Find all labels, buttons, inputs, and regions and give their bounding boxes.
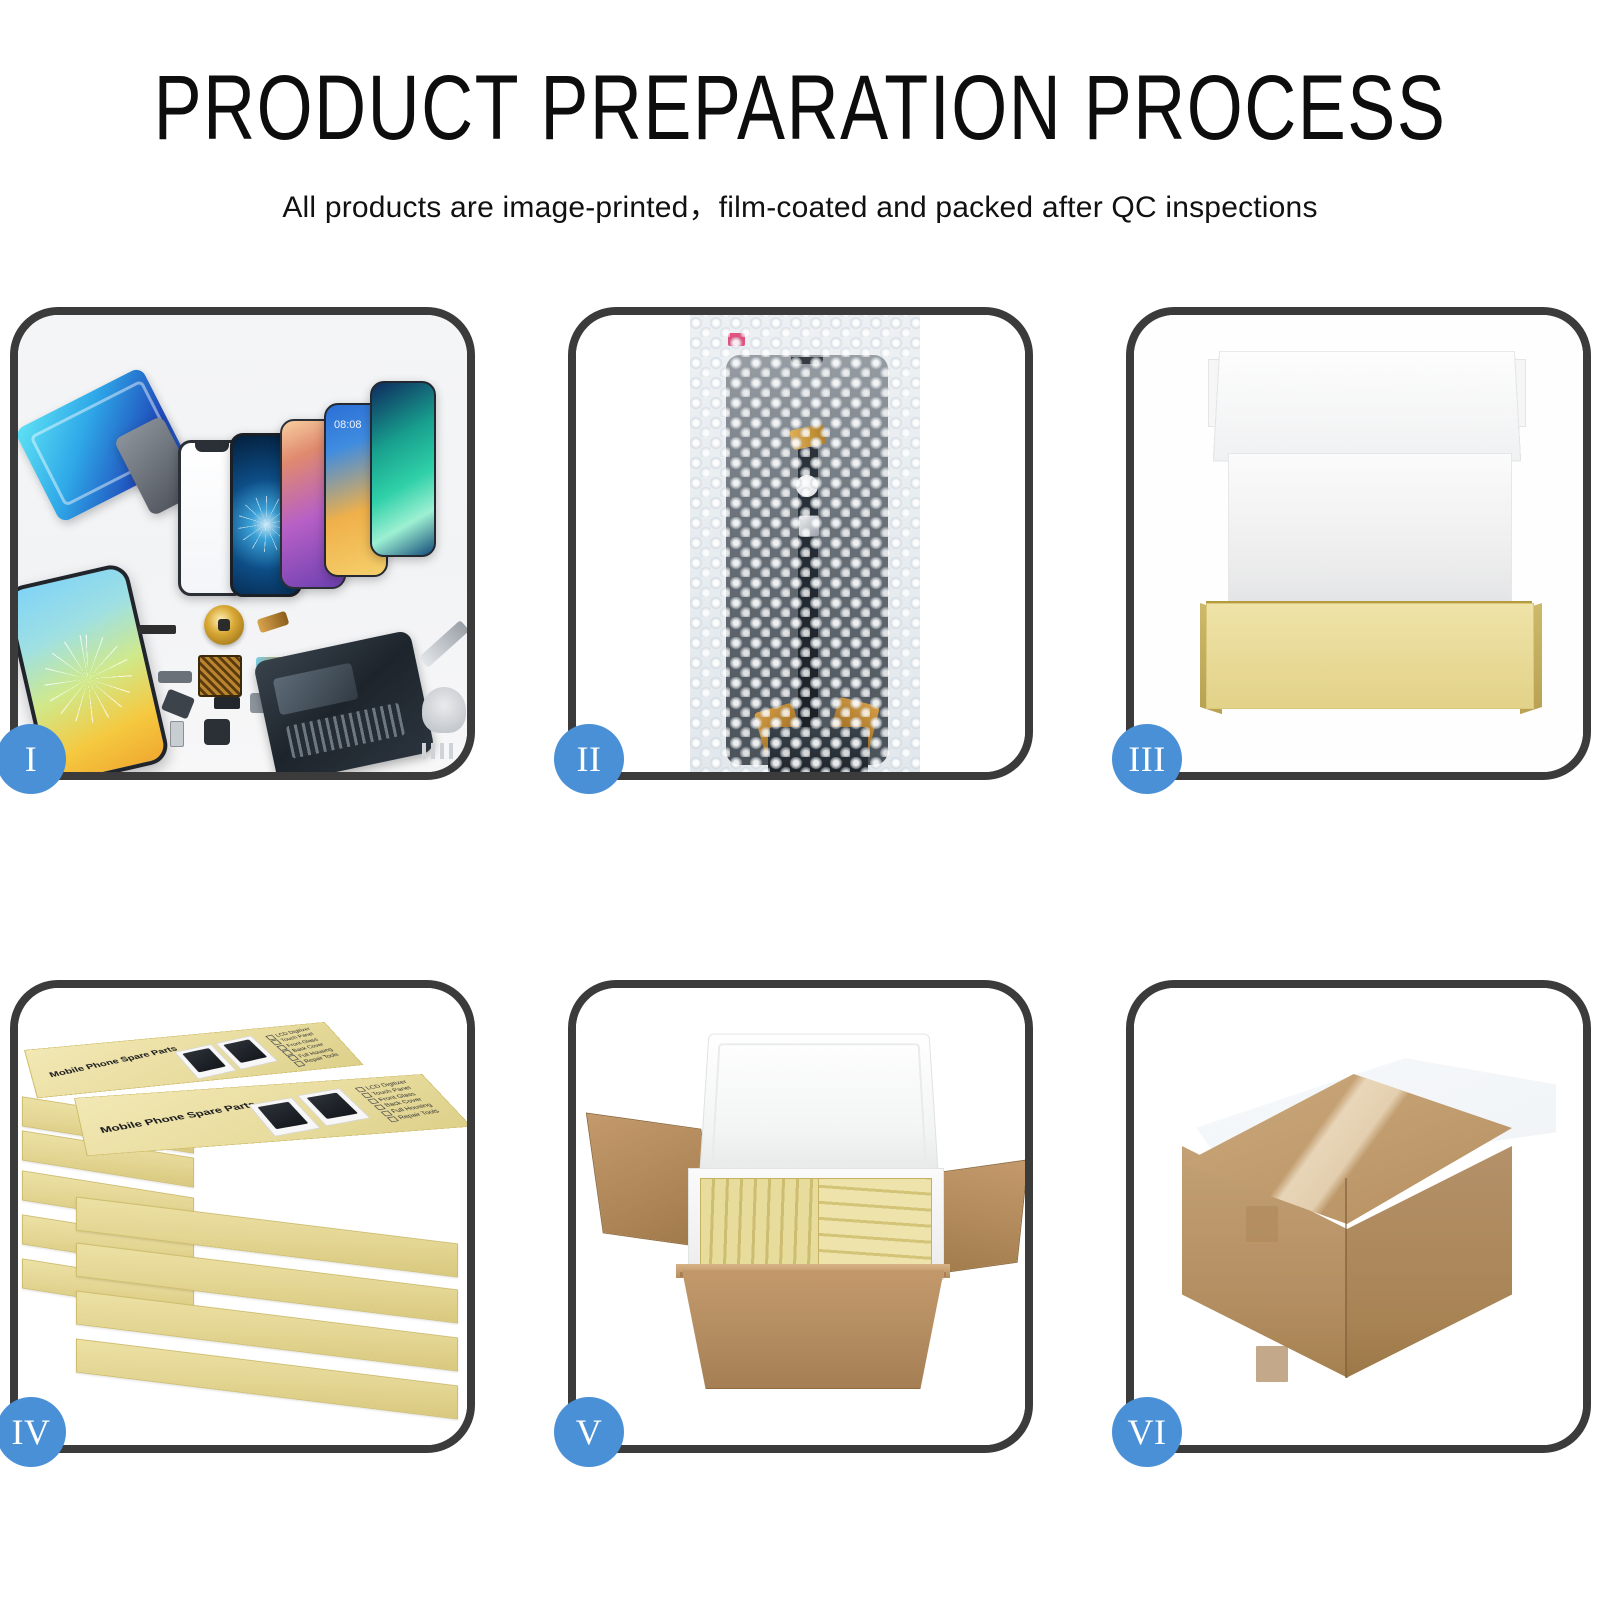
process-step-grid: 08:08 I — [10, 307, 1590, 1453]
retail-box-brand-front: Mobile Phone Spare Parts — [98, 1100, 259, 1135]
step-2-photo — [576, 315, 1025, 772]
page-title: PRODUCT PREPARATION PROCESS — [0, 62, 1600, 154]
packed-retail-boxes-row-2 — [818, 1178, 932, 1266]
mailer-lid-front — [1228, 453, 1512, 605]
process-step-4[interactable]: Mobile Phone Spare Parts LCD Digitizer T… — [10, 980, 475, 1453]
retail-box-brand-rear: Mobile Phone Spare Parts — [48, 1045, 180, 1079]
page-header: PRODUCT PREPARATION PROCESS All products… — [0, 0, 1600, 226]
foam-lid — [699, 1034, 939, 1176]
phone-clock-label: 08:08 — [334, 419, 362, 431]
process-step-3[interactable]: III — [1126, 307, 1591, 780]
step-3-photo — [1134, 315, 1583, 772]
carton-tape-tab-lower — [1256, 1346, 1288, 1382]
loudspeaker-part — [204, 719, 230, 745]
process-step-5[interactable]: V — [568, 980, 1033, 1453]
mailer-lid-back — [1213, 351, 1521, 462]
step-badge-5: V — [554, 1397, 624, 1467]
step-5-photo — [576, 988, 1025, 1445]
ic-chip-part — [198, 655, 242, 697]
cleaning-brush-tool — [422, 687, 466, 733]
bubble-wrap-texture — [690, 315, 920, 772]
step-badge-3: III — [1112, 724, 1182, 794]
step-4-photo: Mobile Phone Spare Parts LCD Digitizer T… — [18, 988, 467, 1445]
bubble-wrap-bag — [690, 315, 920, 772]
carton-body — [682, 1270, 944, 1389]
screws-set — [422, 743, 456, 759]
step-1-photo: 08:08 — [18, 315, 467, 772]
step-badge-6: VI — [1112, 1397, 1182, 1467]
vibration-motor-part — [214, 697, 240, 709]
carton-tape-tab-upper — [1246, 1206, 1278, 1242]
process-step-2[interactable]: II — [568, 307, 1033, 780]
earpiece-speaker-part — [138, 625, 176, 634]
process-step-6[interactable]: VI — [1126, 980, 1591, 1453]
step-badge-1: I — [0, 724, 66, 794]
wireless-charging-coil-part — [204, 605, 244, 645]
step-badge-4: IV — [0, 1397, 66, 1467]
step-6-photo — [1134, 988, 1583, 1445]
teal-display-phone — [370, 381, 436, 557]
camera-module-part — [158, 671, 192, 683]
mailer-box-front — [1206, 603, 1534, 709]
step-badge-2: II — [554, 724, 624, 794]
sim-tray-part — [170, 721, 184, 747]
process-step-1[interactable]: 08:08 I — [10, 307, 475, 780]
carton-vertical-seam — [1345, 1178, 1347, 1378]
